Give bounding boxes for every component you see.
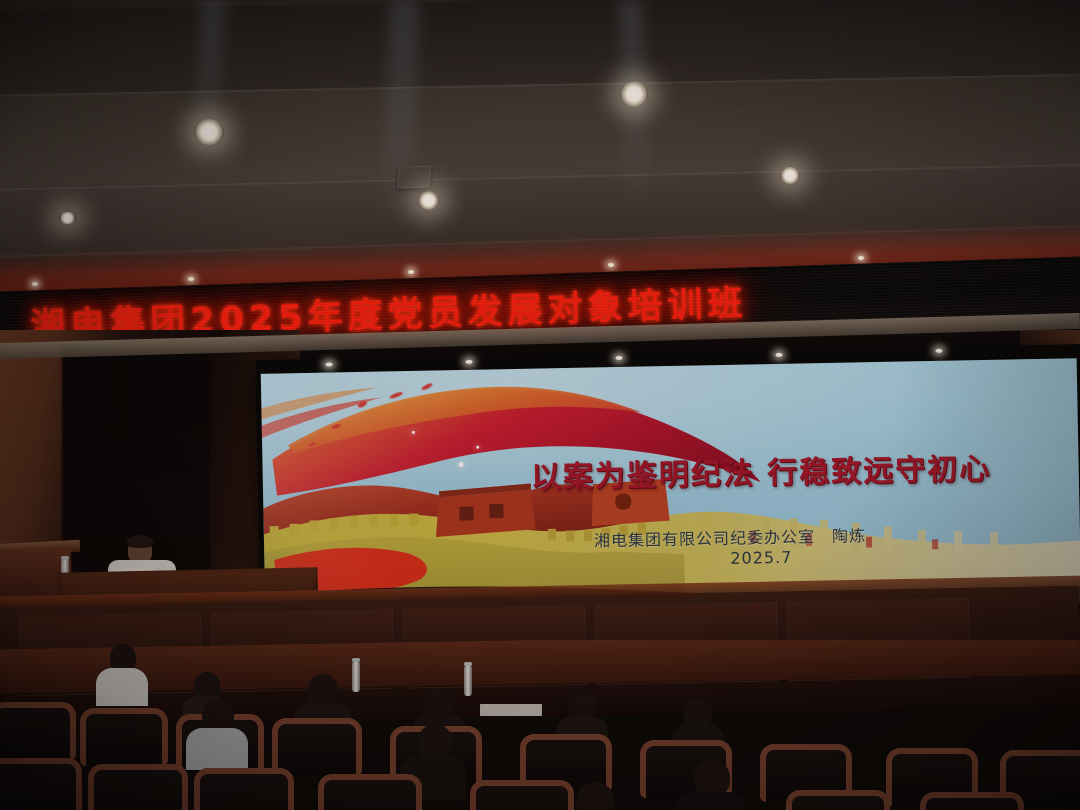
seat-frame	[0, 702, 76, 760]
frame-led	[326, 362, 333, 366]
frame-led	[775, 353, 782, 357]
auditorium-seat	[88, 764, 188, 810]
auditorium-seat	[920, 792, 1024, 810]
water-bottle	[352, 662, 360, 692]
ceiling-light	[59, 212, 76, 224]
edge-led	[188, 277, 194, 281]
seat-frame	[0, 758, 82, 810]
frame-led	[466, 360, 473, 364]
attendee-shoulders	[96, 668, 148, 706]
ceiling-light	[780, 167, 800, 184]
ceiling-speaker-icon	[397, 165, 431, 188]
edge-led	[858, 256, 864, 260]
auditorium-seat	[786, 790, 890, 810]
ceiling-light	[620, 81, 648, 107]
edge-led	[408, 270, 414, 274]
sparkle-icon	[412, 431, 415, 434]
attendee-head	[694, 760, 730, 796]
edge-led	[32, 282, 38, 286]
seat-frame	[194, 768, 294, 810]
slide-date: 2025.7	[730, 548, 792, 568]
auditorium-seat	[194, 768, 294, 810]
attendee-head	[418, 724, 452, 760]
attendee	[556, 782, 630, 810]
slide-title: 以案为鉴明纪法 行稳致远守初心	[530, 444, 991, 497]
attendee-shoulders	[186, 728, 248, 770]
ceiling	[0, 0, 1080, 292]
auditorium-seat	[0, 758, 82, 810]
attendee-head	[576, 782, 614, 810]
frame-led	[935, 349, 942, 353]
seat-frame	[786, 790, 890, 810]
seat-frame	[88, 764, 188, 810]
attendee-head	[202, 698, 234, 732]
audience-area	[0, 640, 1080, 810]
sparkle-icon	[476, 446, 479, 449]
attendee	[676, 760, 746, 810]
seat-frame	[318, 774, 422, 810]
attendee-shoulders	[676, 792, 746, 810]
auditorium-seat	[80, 708, 168, 766]
ceiling-light	[418, 191, 439, 210]
edge-led	[608, 263, 614, 267]
ceiling-light	[194, 119, 224, 145]
presider-hair	[127, 535, 153, 548]
seat-frame	[80, 708, 168, 766]
frame-led	[615, 356, 622, 360]
seat-frame	[920, 792, 1024, 810]
attendee	[186, 698, 248, 768]
attendee	[96, 644, 148, 702]
auditorium-seat	[318, 774, 422, 810]
rear-counter	[0, 640, 1080, 693]
auditorium-seat	[0, 702, 76, 760]
photo-scene: 湘电集团2025年度党员发展对象培训班	[0, 0, 1080, 810]
desk-papers	[480, 704, 542, 716]
